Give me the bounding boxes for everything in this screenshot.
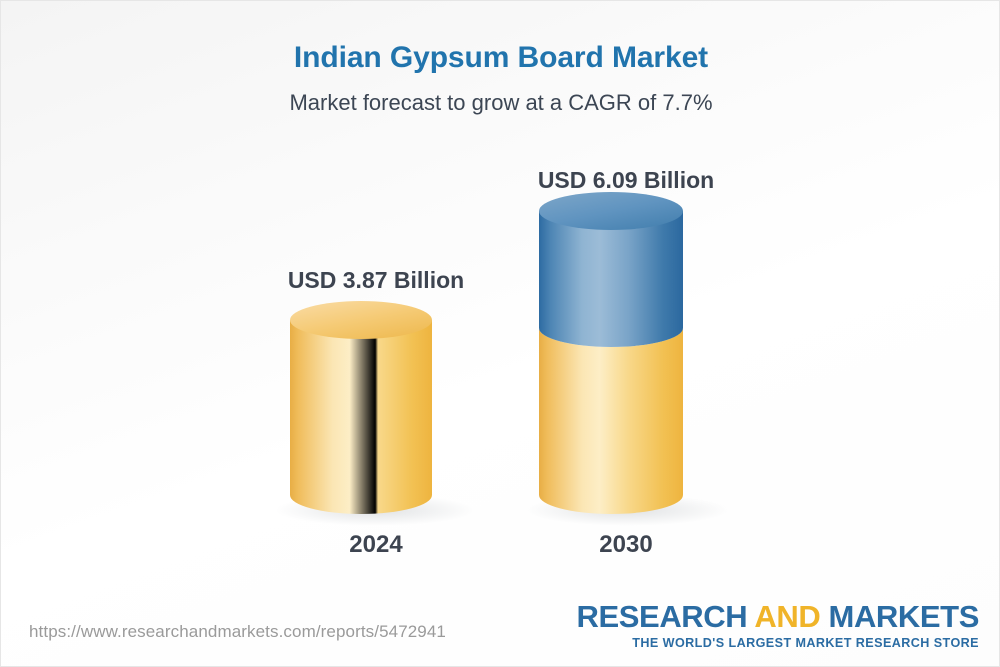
- infographic-canvas: Indian Gypsum Board Market Market foreca…: [0, 0, 1000, 667]
- logo-research-text: RESEARCH: [577, 599, 755, 634]
- bar-cylinder-2030: [525, 196, 740, 536]
- logo-markets-text: MARKETS: [820, 599, 979, 634]
- value-label-2030: USD 6.09 Billion: [466, 167, 786, 194]
- value-label-2024: USD 3.87 Billion: [216, 267, 536, 294]
- page-title: Indian Gypsum Board Market: [1, 41, 1000, 75]
- cylinder-segment-growth-2030: [539, 211, 683, 347]
- logo-tagline: THE WORLD'S LARGEST MARKET RESEARCH STOR…: [577, 637, 980, 650]
- report-url[interactable]: https://www.researchandmarkets.com/repor…: [29, 622, 446, 642]
- page-subtitle: Market forecast to grow at a CAGR of 7.7…: [1, 90, 1000, 116]
- axis-label-2030: 2030: [466, 531, 786, 559]
- logo-and-text: AND: [754, 599, 820, 634]
- cylinder-top-2024: [290, 301, 432, 339]
- brand-logo: RESEARCH AND MARKETS THE WORLD'S LARGEST…: [577, 601, 980, 650]
- bar-cylinder-2024: [276, 296, 486, 536]
- logo-wordmark: RESEARCH AND MARKETS: [577, 601, 980, 632]
- cylinder-body-2024: [290, 320, 432, 514]
- cylinder-segment-base-2030: [539, 328, 683, 514]
- cylinder-top-2030: [539, 192, 683, 230]
